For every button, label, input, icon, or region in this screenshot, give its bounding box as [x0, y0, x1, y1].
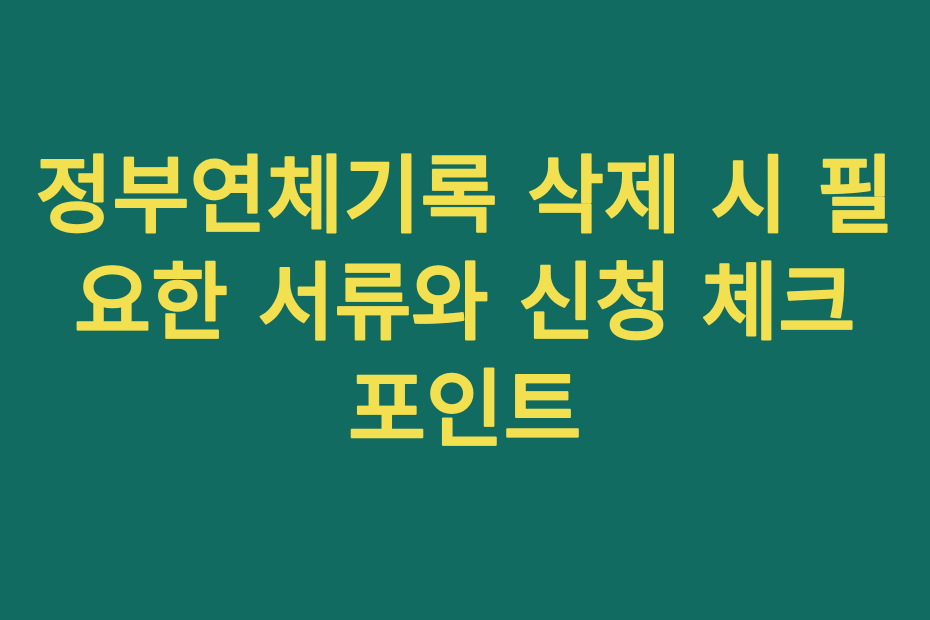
headline-line-1: 정부연체기록 삭제 시 필 [28, 143, 901, 250]
headline-block: 정부연체기록 삭제 시 필 요한 서류와 신청 체크 포인트 [0, 143, 930, 464]
thumbnail-canvas: 정부연체기록 삭제 시 필 요한 서류와 신청 체크 포인트 [0, 0, 930, 620]
headline-line-3: 포인트 [24, 357, 906, 464]
headline-line-2: 요한 서류와 신청 체크 [28, 250, 901, 357]
